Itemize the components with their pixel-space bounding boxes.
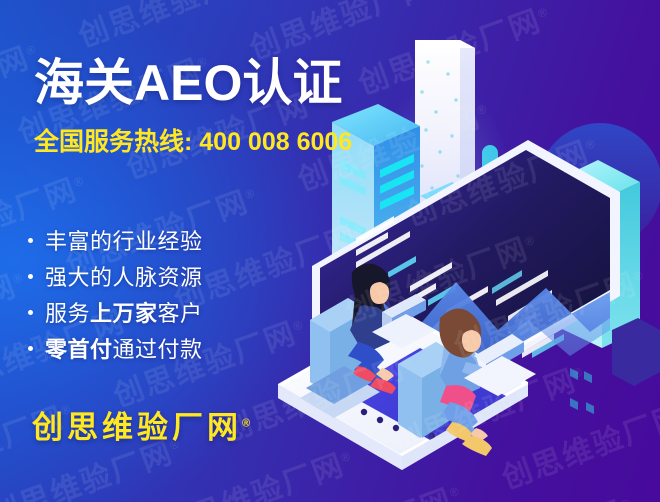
brand-logo: 创思维验厂网®: [32, 402, 250, 447]
list-item-text: 服务上万家客户: [45, 296, 203, 328]
bullet-dot-icon: [28, 346, 33, 351]
bullet-dot-icon: [28, 310, 33, 315]
list-item-text: 丰富的行业经验: [45, 224, 203, 256]
list-item-text: 强大的人脉资源: [45, 260, 203, 292]
small-block: [612, 318, 660, 386]
registered-mark-icon: ®: [242, 418, 250, 430]
list-item: 服务上万家客户: [28, 294, 203, 330]
bullet-dot-icon: [28, 274, 33, 279]
brand-logo-text: 创思维验厂网: [32, 410, 242, 445]
list-item: 强大的人脉资源: [28, 258, 203, 294]
list-item: 丰富的行业经验: [28, 222, 203, 258]
feature-list: 丰富的行业经验 强大的人脉资源 服务上万家客户 零首付通过付款: [28, 222, 203, 366]
list-item-text: 零首付通过付款: [45, 332, 203, 364]
page-title: 海关AEO认证: [34, 58, 342, 108]
promo-banner: 创思维验厂网® 创思维验厂网® 创思维验厂网® 创思维验厂网® 创思维验厂网® …: [0, 0, 660, 502]
copy-block: 海关AEO认证 全国服务热线: 400 008 6006 丰富的行业经验 强大的…: [0, 0, 400, 502]
bullet-dot-icon: [28, 238, 33, 243]
list-item: 零首付通过付款: [28, 330, 203, 366]
hotline-text: 全国服务热线: 400 008 6006: [34, 130, 352, 155]
